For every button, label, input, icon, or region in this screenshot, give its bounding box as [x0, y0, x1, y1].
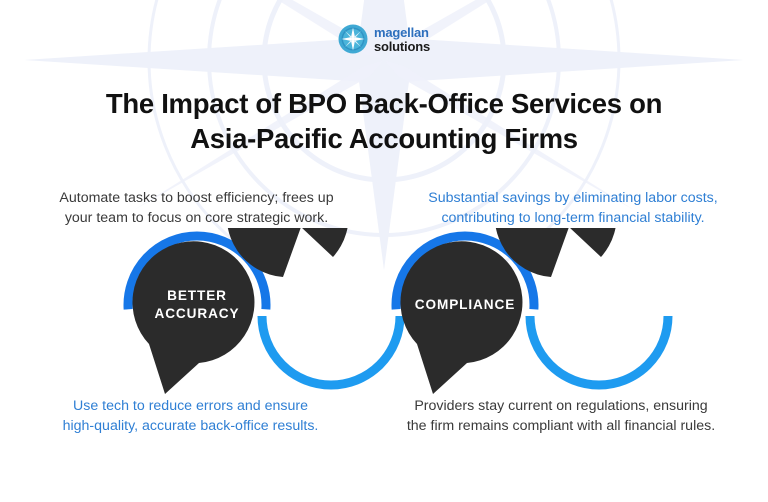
brand-wordmark: magellan solutions [374, 25, 430, 53]
caption-line-2: the firm remains compliant with all fina… [362, 416, 760, 436]
caption-compliance-bottom: Providers stay current on regulations, e… [362, 396, 760, 436]
caption-line-1: Providers stay current on regulations, e… [362, 396, 760, 416]
bubble-body-better-accuracy[interactable] [132, 241, 254, 394]
caption-line-1: Substantial savings by eliminating labor… [389, 188, 757, 208]
caption-line-2: high-quality, accurate back-office resul… [18, 416, 363, 436]
page-title-line-2: Asia-Pacific Accounting Firms [34, 121, 734, 156]
brand-logo: magellan solutions [0, 22, 768, 56]
brand-word-magellan: magellan [374, 26, 430, 39]
brand-word-solutions: solutions [374, 40, 430, 53]
compass-logo-icon [338, 24, 368, 54]
bubble-accent-arc-cost-savings [530, 316, 668, 385]
caption-line-1: Use tech to reduce errors and ensure [18, 396, 363, 416]
page-title-line-1: The Impact of BPO Back-Office Services o… [34, 86, 734, 121]
bubble-graphics [0, 228, 768, 398]
caption-better-accuracy-bottom: Use tech to reduce errors and ensure hig… [18, 396, 363, 436]
caption-cost-savings-top: Substantial savings by eliminating labor… [389, 188, 757, 228]
bubble-accent-arc-improved-efficiency [262, 316, 400, 385]
caption-line-2: contributing to long-term financial stab… [389, 208, 757, 228]
bubble-group: BETTER ACCURACY IMPROVED EFFICIENCY COMP… [0, 228, 768, 398]
page-title: The Impact of BPO Back-Office Services o… [34, 86, 734, 156]
caption-better-accuracy-top: Automate tasks to boost efficiency; free… [14, 188, 379, 228]
caption-line-1: Automate tasks to boost efficiency; free… [14, 188, 379, 208]
bubble-body-compliance[interactable] [400, 241, 522, 394]
caption-line-2: your team to focus on core strategic wor… [14, 208, 379, 228]
